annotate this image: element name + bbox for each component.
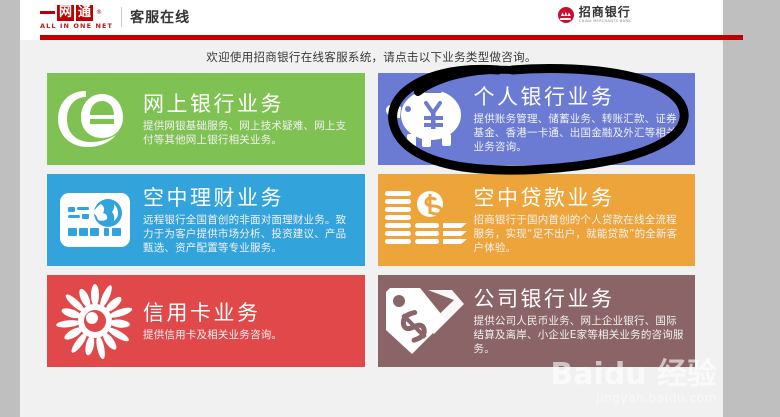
e-logo-icon [47,73,143,165]
card-body: 空中贷款业务 招商银行于国内首创的个人贷款在线全流程服务，实现“足不出户，就能贷… [474,185,696,255]
piggy-bank-icon [378,73,474,165]
logo-characters: 网 通 ® [40,4,102,21]
card-body: 信用卡业务 提供信用卡及相关业务咨询。 [143,300,365,342]
right-gutter [723,0,780,417]
card-description: 远程银行全国首创的非面对面理财业务。致力于为客户提供市场分析、投资建议、产品甄选… [143,213,357,255]
service-card-online-banking[interactable]: 网上银行业务 提供网银基础服务、网上技术疑难、网上支付等其他网上银行相关业务。 [47,73,365,165]
card-description: 提供信用卡及相关业务咨询。 [143,328,357,342]
logo-divider [121,7,122,27]
service-card-credit-card[interactable]: 信用卡业务 提供信用卡及相关业务咨询。 [47,275,365,367]
left-gutter [0,0,20,417]
sun-flower-icon [47,275,143,367]
site-header: 网 通 ® ALL IN ONE NET 客服在线 招商银行 CHINA MER… [20,0,723,35]
card-title: 公司银行业务 [474,286,688,312]
service-card-air-loan[interactable]: 空中贷款业务 招商银行于国内首创的个人贷款在线全流程服务，实现“足不出户，就能贷… [378,174,696,266]
logo-char-wang: 网 [57,5,74,21]
card-body: 空中理财业务 远程银行全国首创的非面对面理财业务。致力于为客户提供市场分析、投资… [143,185,365,255]
card-body: 公司银行业务 提供公司人民币业务、网上企业银行、国际结算及离岸、小企业E家等相关… [474,286,696,356]
card-description: 提供账务管理、储蓄业务、转账汇款、证券基金、香港一卡通、出国金融及外汇等相关业务… [474,112,688,154]
service-card-corporate-banking[interactable]: 公司银行业务 提供公司人民币业务、网上企业银行、国际结算及离岸、小企业E家等相关… [378,275,696,367]
logo-dash-icon [40,11,55,14]
logo-tagline: ALL IN ONE NET [40,22,113,30]
service-card-air-wealth[interactable]: 空中理财业务 远程银行全国首创的非面对面理财业务。致力于为客户提供市场分析、投资… [47,174,365,266]
cmb-emblem-icon [558,7,574,23]
card-globe-icon [47,174,143,266]
card-description: 提供网银基础服务、网上技术疑难、网上支付等其他网上银行相关业务。 [143,119,357,147]
card-description: 提供公司人民币业务、网上企业银行、国际结算及离岸、小企业E家等相关业务的咨询服务… [474,314,688,356]
yiwangtong-logo[interactable]: 网 通 ® ALL IN ONE NET 客服在线 [40,4,190,30]
coin-stack-icon [378,174,474,266]
registered-mark-icon: ® [96,9,102,16]
card-title: 个人银行业务 [474,84,688,110]
service-card-personal-banking[interactable]: 个人银行业务 提供账务管理、储蓄业务、转账汇款、证券基金、香港一卡通、出国金融及… [378,73,696,165]
cmb-name-cn: 招商银行 [579,6,631,19]
intro-text: 欢迎使用招商银行在线客服系统，请点击以下业务类型做咨询。 [20,40,723,65]
price-tag-icon [378,275,474,367]
card-body: 个人银行业务 提供账务管理、储蓄业务、转账汇款、证券基金、香港一卡通、出国金融及… [474,84,696,154]
card-title: 空中贷款业务 [474,185,688,211]
page-container: 网 通 ® ALL IN ONE NET 客服在线 招商银行 CHINA MER… [20,0,723,417]
card-description: 招商银行于国内首创的个人贷款在线全流程服务，实现“足不出户，就能贷款”的全新客户… [474,213,688,255]
card-title: 信用卡业务 [143,300,357,326]
logo-char-tong: 通 [76,5,93,21]
service-card-grid: 网上银行业务 提供网银基础服务、网上技术疑难、网上支付等其他网上银行相关业务。 [47,73,695,367]
card-title: 网上银行业务 [143,91,357,117]
logo-mark: 网 通 ® ALL IN ONE NET [40,4,113,30]
card-body: 网上银行业务 提供网银基础服务、网上技术疑难、网上支付等其他网上银行相关业务。 [143,91,365,147]
card-title: 空中理财业务 [143,185,357,211]
cmb-brand-text: 招商银行 CHINA MERCHANTS BANK [579,6,631,24]
cmb-name-en: CHINA MERCHANTS BANK [579,19,631,24]
cmb-brand-logo[interactable]: 招商银行 CHINA MERCHANTS BANK [558,6,631,24]
service-online-label: 客服在线 [130,7,190,27]
watermark-url: jingyan.baidu.com [550,391,717,405]
main-content: 欢迎使用招商银行在线客服系统，请点击以下业务类型做咨询。 网上银行业务 提供网银… [20,40,723,417]
